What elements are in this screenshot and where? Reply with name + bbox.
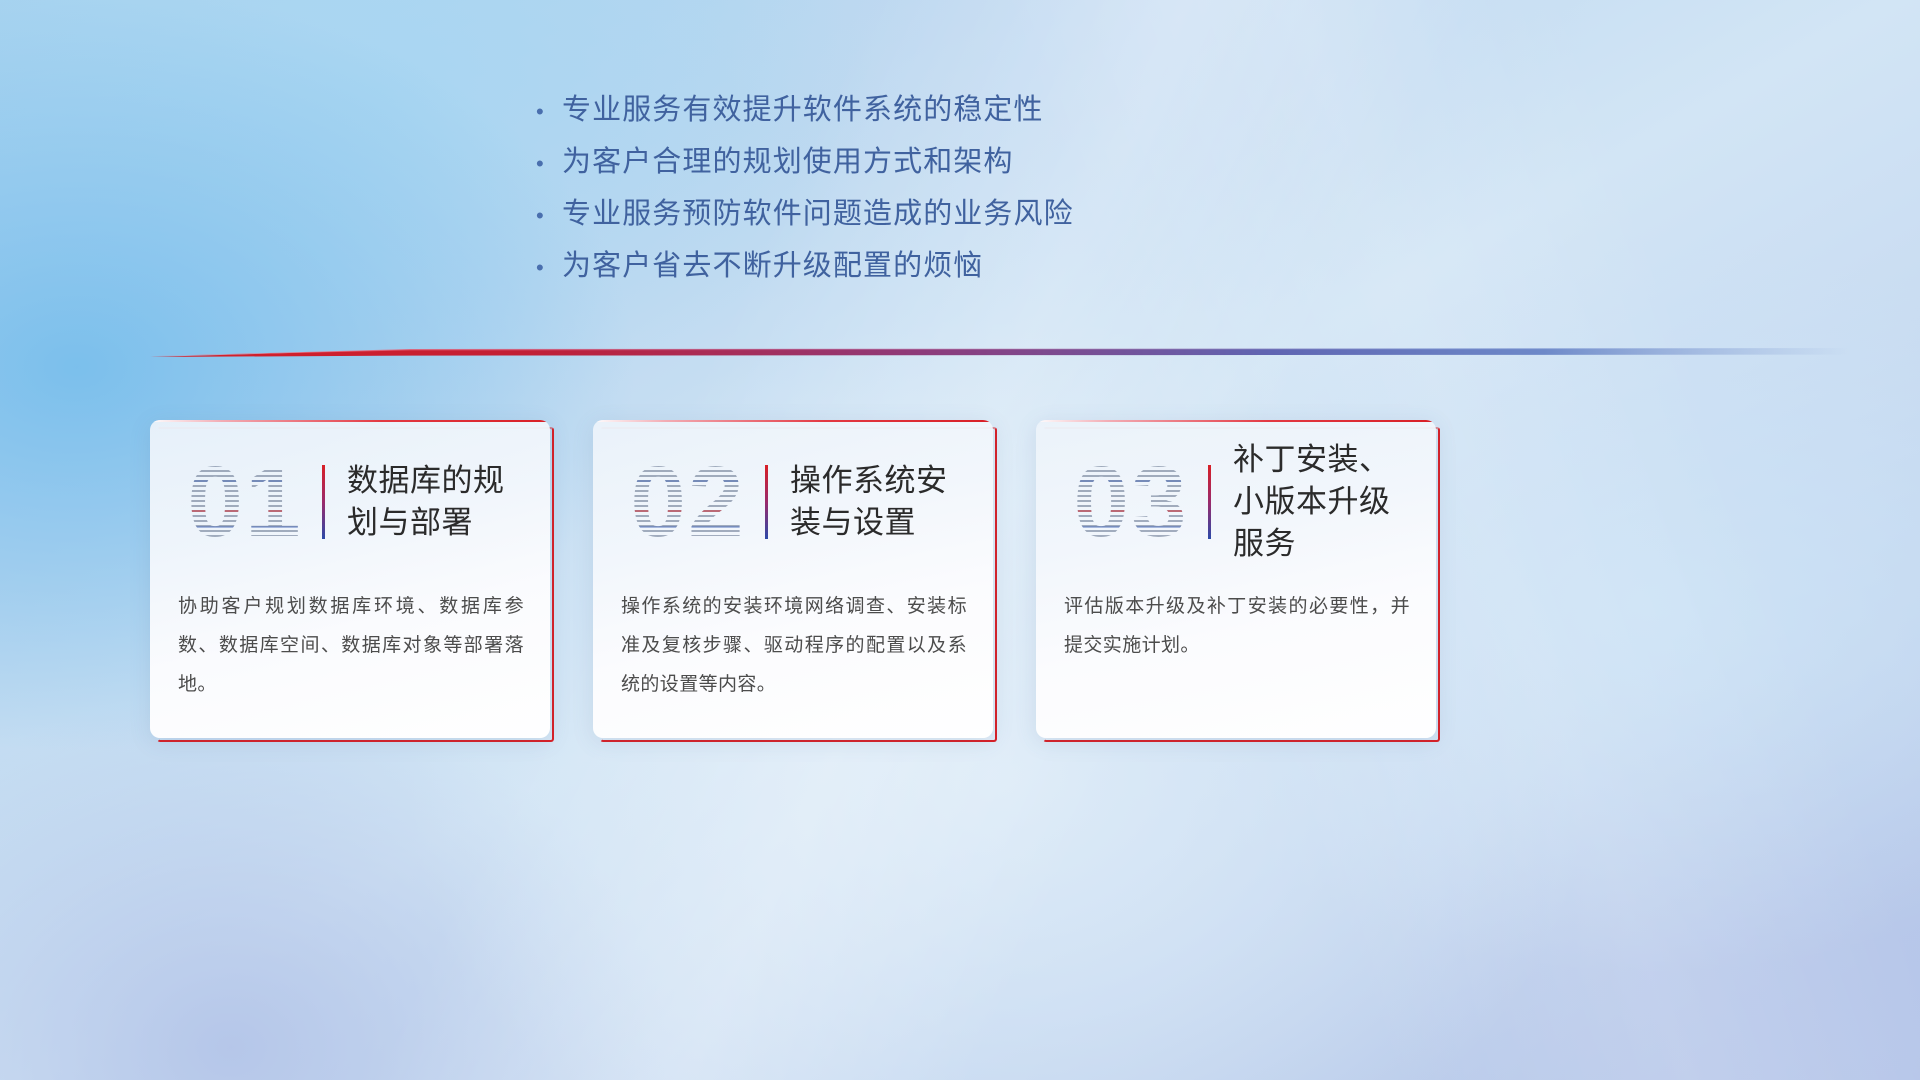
list-item: • 为客户合理的规划使用方式和架构 (536, 138, 1436, 190)
bullet-marker-icon: • (536, 101, 562, 123)
card-index-number-tint: 02 (615, 450, 761, 554)
card-title: 数据库的规划与部署 (347, 460, 528, 544)
card-header: 02 02 操作系统安装与设置 (593, 442, 971, 562)
bullet-text: 专业服务有效提升软件系统的稳定性 (562, 86, 1044, 128)
service-card-02[interactable]: 02 02 操作系统安装与设置 操作系统的安装环境网络调查、安装标准及复核步骤、… (593, 420, 993, 738)
bullet-text: 专业服务预防软件问题造成的业务风险 (562, 190, 1074, 232)
list-item: • 专业服务有效提升软件系统的稳定性 (536, 86, 1436, 138)
card-panel: 02 02 操作系统安装与设置 操作系统的安装环境网络调查、安装标准及复核步骤、… (593, 420, 993, 738)
list-item: • 专业服务预防软件问题造成的业务风险 (536, 190, 1436, 242)
service-card-01[interactable]: 01 01 数据库的规划与部署 协助客户规划数据库环境、数据库参数、数据库空间、… (150, 420, 550, 738)
card-index-number: 02 02 (615, 450, 761, 554)
card-panel: 03 03 补丁安装、小版本升级服务 评估版本升级及补丁安装的必要性，并提交实施… (1036, 420, 1436, 738)
card-top-accent-line (150, 420, 550, 422)
card-index-number: 03 03 (1058, 450, 1204, 554)
card-index-number-tint: 03 (1058, 450, 1204, 554)
card-title-rule (1208, 465, 1211, 539)
card-body-text: 操作系统的安装环境网络调查、安装标准及复核步骤、驱动程序的配置以及系统的设置等内… (621, 588, 967, 705)
card-panel: 01 01 数据库的规划与部署 协助客户规划数据库环境、数据库参数、数据库空间、… (150, 420, 550, 738)
bullet-marker-icon: • (536, 205, 562, 227)
service-card-03[interactable]: 03 03 补丁安装、小版本升级服务 评估版本升级及补丁安装的必要性，并提交实施… (1036, 420, 1436, 738)
card-index-number: 01 01 (172, 450, 318, 554)
card-title: 补丁安装、小版本升级服务 (1233, 439, 1414, 565)
card-title: 操作系统安装与设置 (790, 460, 971, 544)
section-divider (150, 342, 1850, 364)
card-index-number-tint: 01 (172, 450, 318, 554)
benefits-bullet-list: • 专业服务有效提升软件系统的稳定性 • 为客户合理的规划使用方式和架构 • 专… (536, 86, 1436, 294)
bullet-text: 为客户省去不断升级配置的烦恼 (562, 242, 983, 284)
card-top-accent-line (593, 420, 993, 422)
card-body-text: 评估版本升级及补丁安装的必要性，并提交实施计划。 (1064, 588, 1410, 666)
card-header: 01 01 数据库的规划与部署 (150, 442, 528, 562)
service-card-row: 01 01 数据库的规划与部署 协助客户规划数据库环境、数据库参数、数据库空间、… (150, 420, 1780, 738)
bullet-text: 为客户合理的规划使用方式和架构 (562, 138, 1014, 180)
card-title-rule (322, 465, 325, 539)
card-header: 03 03 补丁安装、小版本升级服务 (1036, 442, 1414, 562)
card-title-rule (765, 465, 768, 539)
card-top-accent-line (1036, 420, 1436, 422)
card-body-text: 协助客户规划数据库环境、数据库参数、数据库空间、数据库对象等部署落地。 (178, 588, 524, 705)
list-item: • 为客户省去不断升级配置的烦恼 (536, 242, 1436, 294)
bullet-marker-icon: • (536, 257, 562, 279)
bullet-marker-icon: • (536, 153, 562, 175)
divider-shape-icon (150, 342, 1850, 364)
